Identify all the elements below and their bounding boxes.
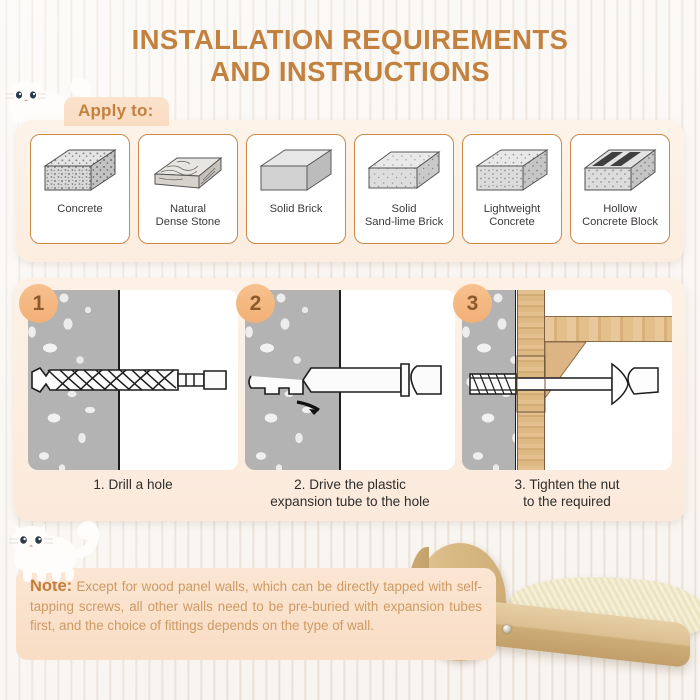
solid-brick-icon: [255, 144, 337, 200]
cat-svg-bottom: [4, 520, 100, 586]
white-cat-icon-bottom: [4, 520, 100, 586]
material-label: Concrete: [57, 203, 102, 216]
installation-steps-panel: 1. Drill a hole 1 2. Drive the plastic e…: [14, 278, 686, 521]
material-label-line-1: Hollow: [603, 203, 637, 215]
step-3-caption-line-2: to the required: [523, 494, 611, 509]
lightweight-concrete-icon: [471, 144, 553, 200]
material-label: Lightweight Concrete: [484, 203, 541, 229]
step-1-caption: 1. Drill a hole: [28, 476, 238, 493]
concrete-block-icon: [39, 144, 121, 200]
hollow-concrete-block-icon: [579, 144, 661, 200]
step-3-badge: 3: [453, 284, 492, 323]
apply-to-panel: Concrete Natural Dense Stone: [16, 120, 684, 262]
note-body: Except for wood panel walls, which can b…: [30, 579, 482, 633]
drill-bit-icon: [28, 290, 238, 470]
page-title-line-2: AND INSTRUCTIONS: [0, 56, 700, 88]
material-label-line-2: Dense Stone: [156, 216, 221, 228]
material-label-line-1: Solid: [392, 203, 417, 215]
board-screw-icon: [503, 625, 511, 633]
material-label-line-2: Concrete Block: [582, 216, 658, 228]
material-card-hollow-concrete-block[interactable]: Hollow Concrete Block: [570, 134, 670, 244]
material-label-line-2: Concrete: [489, 216, 534, 228]
material-card-solid-brick[interactable]: Solid Brick: [246, 134, 346, 244]
material-label-line-1: Solid Brick: [270, 203, 323, 215]
page-title-line-1: INSTALLATION REQUIREMENTS: [0, 24, 700, 56]
step-3-illustration: [462, 290, 672, 470]
material-card-natural-dense-stone[interactable]: Natural Dense Stone: [138, 134, 238, 244]
step-2-caption-line-1: 2. Drive the plastic: [294, 477, 406, 492]
sand-lime-brick-icon: [363, 144, 445, 200]
step-2-caption-line-2: expansion tube to the hole: [270, 494, 429, 509]
step-2[interactable]: 2. Drive the plastic expansion tube to t…: [245, 290, 455, 470]
step-2-illustration: [245, 290, 455, 470]
step-2-badge: 2: [236, 284, 275, 323]
material-label: Solid Brick: [270, 203, 323, 216]
material-card-sand-lime-brick[interactable]: Solid Sand-lime Brick: [354, 134, 454, 244]
step-3-caption: 3. Tighten the nut to the required: [462, 476, 672, 510]
material-label: Solid Sand-lime Brick: [365, 203, 443, 229]
step-3[interactable]: 3. Tighten the nut to the required 3: [462, 290, 672, 470]
step-3-caption-line-1: 3. Tighten the nut: [514, 477, 619, 492]
step-1[interactable]: 1. Drill a hole 1: [28, 290, 238, 470]
material-label-line-1: Natural: [170, 203, 206, 215]
material-label-line-1: Concrete: [57, 203, 102, 215]
material-card-lightweight-concrete[interactable]: Lightweight Concrete: [462, 134, 562, 244]
material-label: Hollow Concrete Block: [582, 203, 658, 229]
material-card-row: Concrete Natural Dense Stone: [30, 134, 670, 244]
screw-driver-icon: [462, 290, 672, 470]
material-label-line-2: Sand-lime Brick: [365, 216, 443, 228]
material-label: Natural Dense Stone: [156, 203, 221, 229]
expansion-tube-icon: [245, 290, 455, 470]
material-label-line-1: Lightweight: [484, 203, 541, 215]
material-card-concrete[interactable]: Concrete: [30, 134, 130, 244]
page-title: INSTALLATION REQUIREMENTS AND INSTRUCTIO…: [0, 24, 700, 88]
step-1-caption-line-1: 1. Drill a hole: [93, 477, 172, 492]
apply-to-badge: Apply to:: [64, 97, 169, 126]
step-1-illustration: [28, 290, 238, 470]
step-1-badge: 1: [19, 284, 58, 323]
step-2-caption: 2. Drive the plastic expansion tube to t…: [245, 476, 455, 510]
natural-dense-stone-icon: [147, 144, 229, 200]
